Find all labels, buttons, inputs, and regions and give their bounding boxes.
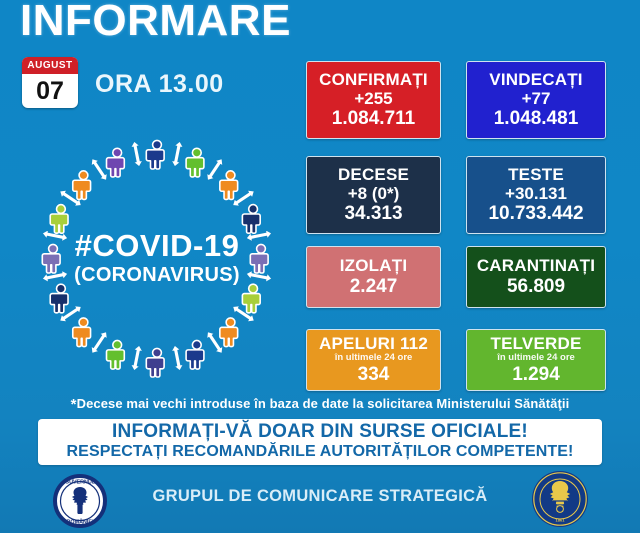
people-circle-icon: #COVID-19 (CORONAVIRUS) [18, 122, 296, 390]
informare-poster: INFORMARE AUGUST 07 ORA 13.00 [0, 0, 640, 533]
stat-label-apeluri: APELURI 112 [319, 334, 428, 353]
page-title: INFORMARE [20, 0, 291, 46]
calendar-month: AUGUST [22, 57, 78, 74]
stat-total-vindecati: 1.048.481 [494, 108, 579, 130]
svg-text:ROMÂNIEI: ROMÂNIEI [67, 518, 94, 525]
stat-total-teste: 10.733.442 [488, 203, 583, 225]
stat-label-decese: DECESE [338, 165, 409, 184]
stat-label-confirmati: CONFIRMAȚI [319, 70, 428, 89]
stat-label-vindecati: VINDECAȚI [489, 70, 582, 89]
svg-text:1861: 1861 [556, 518, 566, 523]
svg-text:GUVERNUL: GUVERNUL [65, 480, 96, 486]
stat-box-teste: TESTE +30.131 10.733.442 [466, 156, 606, 234]
stat-total-telverde: 1.294 [512, 364, 560, 386]
stat-label-izolati: IZOLAȚI [340, 256, 408, 275]
stat-label-telverde: TELVERDE [490, 334, 581, 353]
guvernul-romaniei-seal-icon: GUVERNUL ROMÂNIEI [53, 474, 107, 528]
stat-delta-teste: +30.131 [505, 184, 567, 204]
stat-box-vindecati: VINDECAȚI +77 1.048.481 [466, 61, 606, 139]
stat-delta-vindecati: +77 [522, 89, 551, 109]
stat-total-apeluri: 334 [358, 364, 390, 386]
cta-line-1: INFORMAȚI-VĂ DOAR DIN SURSE OFICIALE! [112, 422, 528, 443]
romanian-coat-of-arms-icon: 1861 [531, 470, 589, 528]
stat-total-confirmati: 1.084.711 [332, 108, 415, 130]
cta-line-2: RESPECTAȚI RECOMANDĂRILE AUTORITĂȚILOR C… [67, 443, 574, 461]
stat-box-apeluri: APELURI 112 în ultimele 24 ore 334 [306, 329, 441, 391]
stat-label-carantinati: CARANTINAȚI [477, 256, 595, 275]
stat-box-izolati: IZOLAȚI 2.247 [306, 246, 441, 308]
stat-note-telverde: în ultimele 24 ore [497, 353, 575, 363]
stat-box-telverde: TELVERDE în ultimele 24 ore 1.294 [466, 329, 606, 391]
stat-delta-confirmati: +255 [354, 89, 392, 109]
footer-organization: GRUPUL DE COMUNICARE STRATEGICĂ [142, 487, 498, 506]
stat-total-izolati: 2.247 [350, 276, 398, 298]
calendar-icon: AUGUST 07 [22, 57, 78, 108]
stat-box-confirmati: CONFIRMAȚI +255 1.084.711 [306, 61, 441, 139]
stat-label-teste: TESTE [508, 165, 564, 184]
report-hour: ORA 13.00 [95, 70, 224, 99]
footnote: *Decese mai vechi introduse în baza de d… [0, 396, 640, 413]
footnote-text: Decese mai vechi introduse în baza de da… [77, 396, 570, 411]
stat-box-decese: DECESE +8 (0*) 34.313 [306, 156, 441, 234]
stat-total-decese: 34.313 [344, 203, 402, 225]
official-sources-banner: INFORMAȚI-VĂ DOAR DIN SURSE OFICIALE! RE… [38, 419, 602, 465]
stat-delta-decese: +8 (0*) [348, 184, 400, 204]
stat-total-carantinati: 56.809 [507, 276, 565, 298]
stat-box-carantinati: CARANTINAȚI 56.809 [466, 246, 606, 308]
calendar-day: 07 [22, 74, 78, 108]
stat-note-apeluri: în ultimele 24 ore [335, 353, 413, 363]
